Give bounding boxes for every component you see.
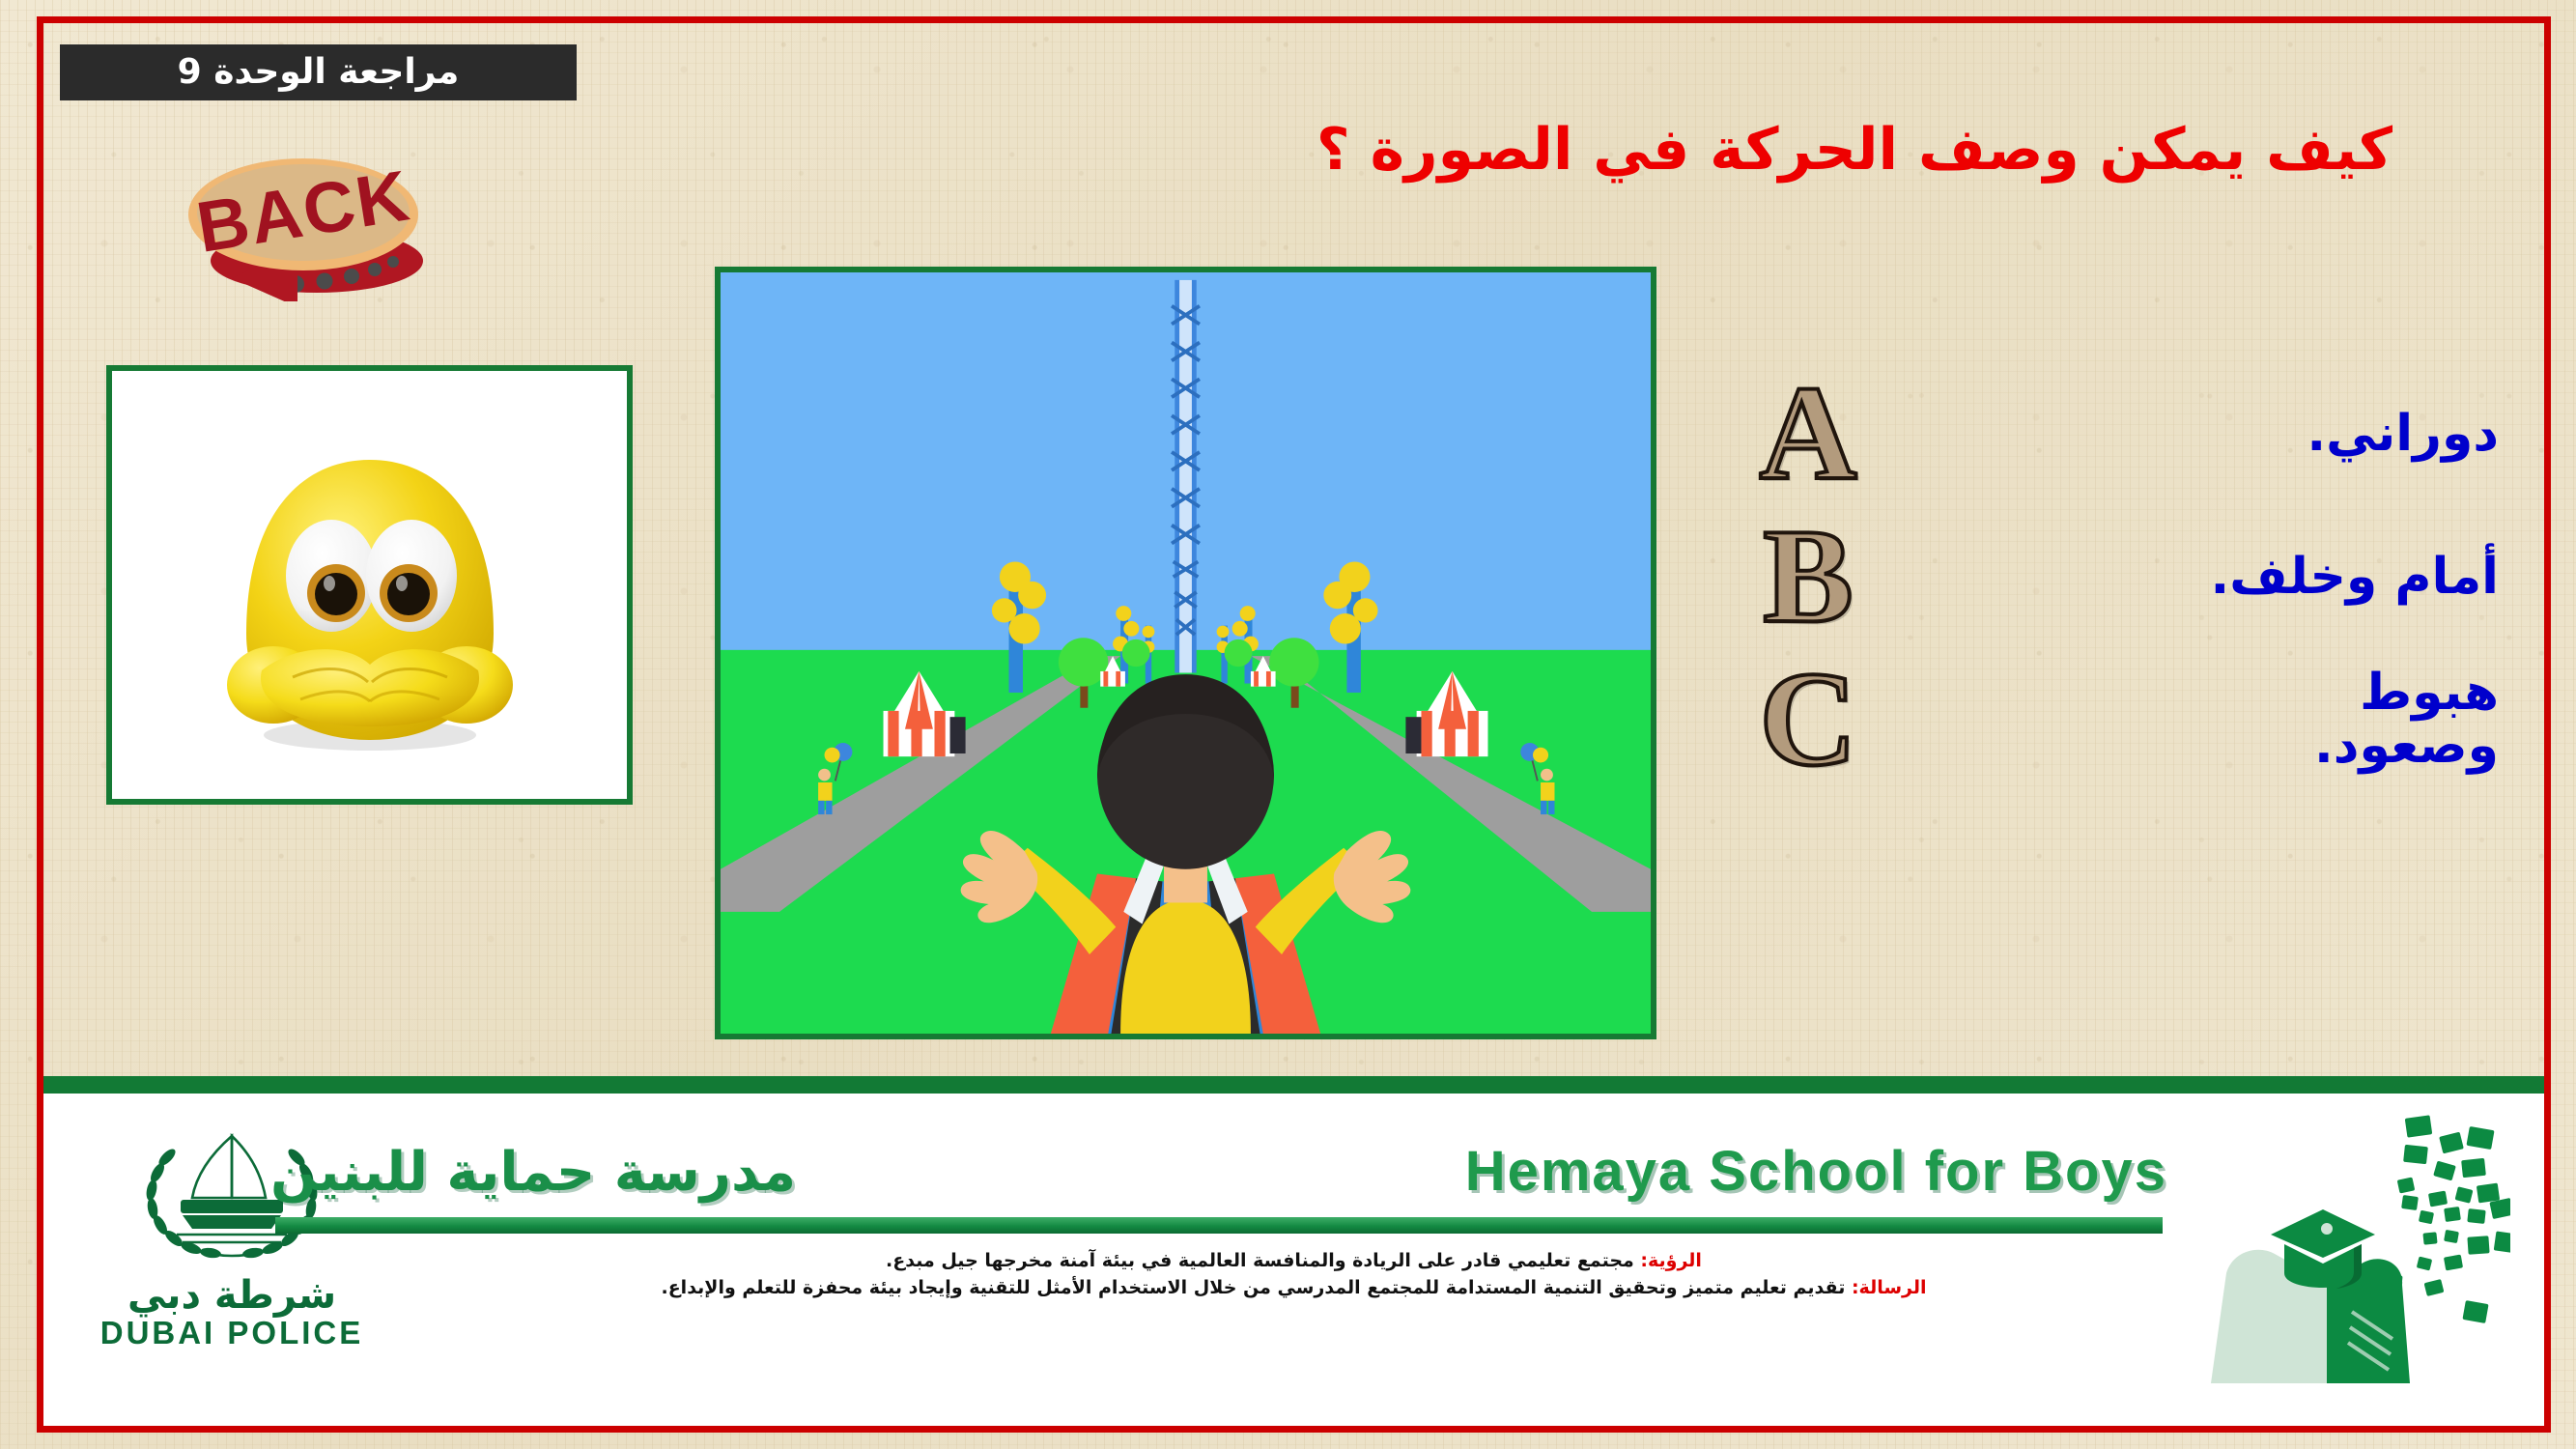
- unit-banner-label: مراجعة الوحدة 9: [178, 55, 460, 90]
- unit-banner: مراجعة الوحدة 9: [60, 44, 577, 100]
- answer-letter-c: C: [1716, 652, 1900, 787]
- answer-text-b: أمام وخلف.: [1900, 551, 2518, 604]
- vision-label: الرؤية:: [1640, 1250, 1702, 1271]
- footer-green-rule: [275, 1217, 2163, 1234]
- graduation-cap-logo: [2182, 1103, 2510, 1393]
- mission-line: الرسالة: تقديم تعليم متميز وتحقيق التنمي…: [584, 1275, 2003, 1302]
- school-name-row: Hemaya School for Boys مدرسة حماية للبني…: [270, 1144, 2167, 1200]
- back-button-graphic: BACK: [172, 147, 442, 301]
- dubai-police-name-ar: شرطة دبي: [82, 1276, 382, 1315]
- answer-letter-a: A: [1716, 366, 1900, 501]
- roller-coaster-illustration: [721, 272, 1651, 1034]
- answer-option-c[interactable]: هبوط وصعود. C: [1716, 648, 2518, 791]
- answer-text-a: دوراني.: [1900, 408, 2518, 461]
- vision-mission-block: الرؤية: مجتمع تعليمي قادر على الريادة وا…: [584, 1248, 2003, 1301]
- vision-text: مجتمع تعليمي قادر على الريادة والمنافسة …: [886, 1250, 1634, 1271]
- school-name-en: Hemaya School for Boys: [1465, 1144, 2167, 1200]
- answers-list: دوراني. A أمام وخلف. B هبوط وصعود. C: [1716, 362, 2518, 791]
- mission-text: تقديم تعليم متميز وتحقيق التنمية المستدا…: [661, 1277, 1845, 1298]
- answer-option-a[interactable]: دوراني. A: [1716, 362, 2518, 505]
- shocked-face-icon: [177, 392, 563, 779]
- answer-letter-b: B: [1716, 509, 1900, 644]
- graduation-cap-icon: [2182, 1103, 2510, 1393]
- answer-option-b[interactable]: أمام وخلف. B: [1716, 505, 2518, 648]
- school-footer: شرطة دبي DUBAI POLICE Hemaya School for …: [43, 1076, 2544, 1426]
- dubai-police-name-en: DUBAI POLICE: [82, 1315, 382, 1351]
- emoji-image-panel: [106, 365, 633, 805]
- vision-line: الرؤية: مجتمع تعليمي قادر على الريادة وا…: [584, 1248, 2003, 1275]
- slide-root: مراجعة الوحدة 9 BACK كيف يمكن وصف الحركة…: [0, 0, 2576, 1449]
- school-name-ar: مدرسة حماية للبنين: [270, 1146, 796, 1200]
- back-button[interactable]: BACK: [172, 147, 442, 301]
- answer-text-c: هبوط وصعود.: [1900, 667, 2518, 772]
- mission-label: الرسالة:: [1852, 1277, 1927, 1298]
- picture-panel: [715, 267, 1656, 1039]
- question-title: كيف يمكن وصف الحركة في الصورة ؟: [770, 118, 2392, 182]
